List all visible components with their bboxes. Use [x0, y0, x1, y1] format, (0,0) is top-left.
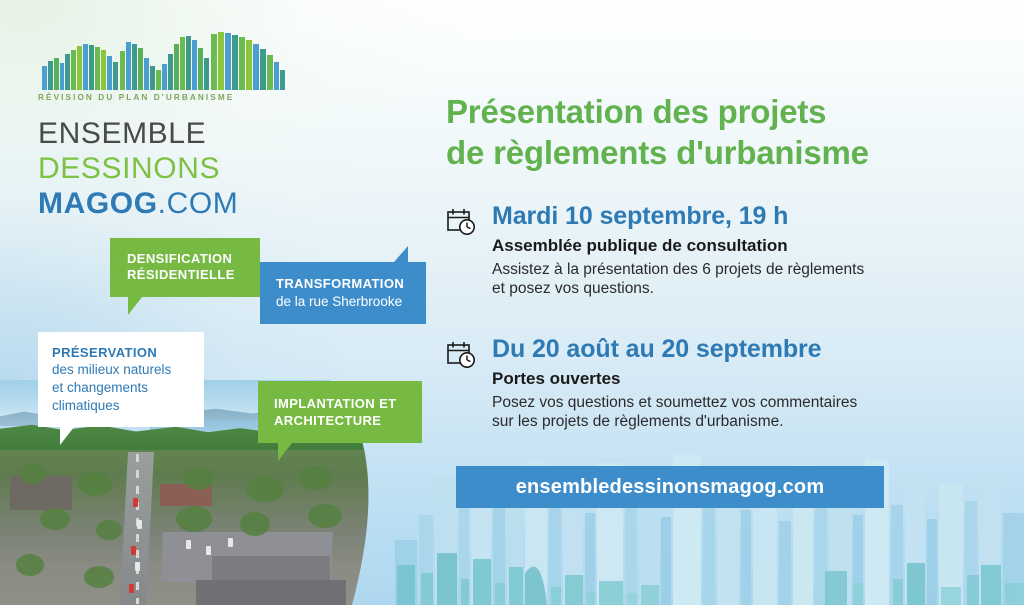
- page-title-line2: de règlements d'urbanisme: [446, 133, 1006, 174]
- callout-preservation: PRÉSERVATION des milieux naturels et cha…: [38, 332, 204, 427]
- callout-transformation-line2: de la rue Sherbrooke: [276, 293, 416, 311]
- callout-densification-line2: RÉSIDENTIELLE: [127, 267, 250, 283]
- callout-transformation: TRANSFORMATION de la rue Sherbrooke: [260, 262, 426, 324]
- callout-implantation-line2: ARCHITECTURE: [274, 412, 412, 429]
- logo-word-ensemble: ENSEMBLE: [38, 119, 298, 149]
- callout-transformation-line1: TRANSFORMATION: [276, 276, 416, 293]
- callout-implantation: IMPLANTATION ET ARCHITECTURE: [258, 381, 422, 443]
- calendar-clock-icon: [446, 340, 476, 370]
- logo-skyline-graphic: [38, 28, 290, 90]
- callout-transformation-tail: [394, 246, 408, 262]
- page-title-line1: Présentation des projets: [446, 92, 1006, 133]
- calendar-clock-icon: [446, 207, 476, 237]
- callout-implantation-tail: [278, 443, 292, 461]
- event-2-date: Du 20 août au 20 septembre: [492, 336, 966, 364]
- logo-word-magog: MAGOG.COM: [38, 189, 298, 219]
- poster-canvas: RÉVISION DU PLAN D'URBANISME ENSEMBLE DE…: [0, 0, 1024, 605]
- logo-word-dotcom: .COM: [158, 187, 239, 220]
- event-1-subtitle: Assemblée publique de consultation: [492, 236, 966, 256]
- logo-tagline: RÉVISION DU PLAN D'URBANISME: [38, 93, 298, 102]
- event-block-1: Mardi 10 septembre, 19 h Assemblée publi…: [446, 203, 966, 299]
- logo-word-magog-text: MAGOG: [38, 187, 158, 220]
- logo-skyline-svg: [38, 28, 290, 90]
- logo-word-dessinons: DESSINONS: [38, 154, 298, 184]
- event-1-description-line2: et posez vos questions.: [492, 279, 966, 299]
- callout-preservation-line3: et changements: [52, 379, 194, 397]
- callout-preservation-line1: PRÉSERVATION: [52, 344, 194, 361]
- callout-preservation-line4: climatiques: [52, 397, 194, 415]
- callout-densification: DENSIFICATION RÉSIDENTIELLE: [110, 238, 260, 297]
- logo: RÉVISION DU PLAN D'URBANISME ENSEMBLE DE…: [38, 28, 298, 219]
- callout-implantation-line1: IMPLANTATION ET: [274, 395, 412, 412]
- callout-preservation-tail: [60, 427, 74, 445]
- callout-densification-line1: DENSIFICATION: [127, 251, 250, 267]
- website-url-button[interactable]: ensembledessinonsmagog.com: [456, 466, 884, 508]
- event-2-description-line2: sur les projets de règlements d'urbanism…: [492, 412, 966, 432]
- event-2-description-line1: Posez vos questions et soumettez vos com…: [492, 393, 966, 413]
- event-block-2: Du 20 août au 20 septembre Portes ouvert…: [446, 336, 966, 432]
- callout-densification-tail: [128, 297, 142, 315]
- page-title: Présentation des projets de règlements d…: [446, 92, 1006, 174]
- calendar-clock-svg: [446, 207, 476, 237]
- callout-preservation-line2: des milieux naturels: [52, 361, 194, 379]
- event-2-subtitle: Portes ouvertes: [492, 369, 966, 389]
- event-1-description-line1: Assistez à la présentation des 6 projets…: [492, 260, 966, 280]
- logo-wordmark: ENSEMBLE DESSINONS MAGOG.COM: [38, 119, 298, 219]
- calendar-clock-svg: [446, 340, 476, 370]
- event-1-date: Mardi 10 septembre, 19 h: [492, 203, 966, 231]
